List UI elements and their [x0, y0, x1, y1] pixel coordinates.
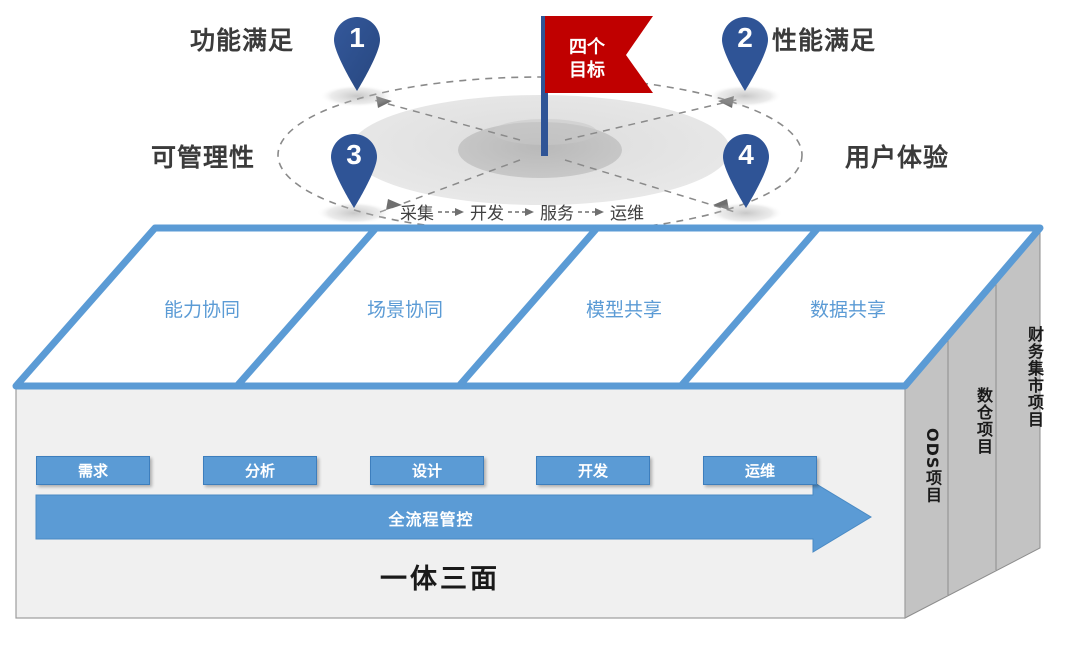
flag-label-line1: 四个	[562, 36, 612, 59]
goals-orbit-section: 功能满足 性能满足 可管理性 用户体验 1 2 3	[0, 0, 1080, 250]
top-panel-label-1: 场景协同	[367, 295, 443, 322]
map-pin-1[interactable]: 1	[330, 14, 384, 92]
flow-arrow-icon	[438, 206, 466, 218]
flag-label: 四个 目标	[562, 36, 612, 82]
top-panel-label-0: 能力协同	[164, 295, 240, 322]
side-panel-label-0: ODS项目	[920, 428, 944, 503]
three-face-block: 能力协同 场景协同 模型共享 数据共享 ODS项目 数仓项目 财务集市项目 需求…	[0, 218, 1080, 638]
block-caption: 一体三面	[0, 557, 880, 596]
top-panel-label-2: 模型共享	[586, 295, 662, 322]
map-pin-3[interactable]: 3	[327, 131, 381, 209]
stage-button-2[interactable]: 设计	[370, 456, 484, 485]
pin-number: 4	[719, 139, 773, 171]
goal-label-3: 可管理性	[151, 138, 255, 174]
side-panel-label-1: 数仓项目	[971, 387, 995, 455]
stage-button-0[interactable]: 需求	[36, 456, 150, 485]
map-pin-4[interactable]: 4	[719, 131, 773, 209]
four-goals-flag	[538, 11, 658, 171]
flow-arrow-icon	[578, 206, 606, 218]
stage-button-1[interactable]: 分析	[203, 456, 317, 485]
goal-label-2: 性能满足	[772, 21, 876, 57]
stage-button-4[interactable]: 运维	[703, 456, 817, 485]
stage-button-3[interactable]: 开发	[536, 456, 650, 485]
goal-label-4: 用户体验	[845, 138, 949, 174]
pin-number: 1	[330, 22, 384, 54]
pin-number: 3	[327, 139, 381, 171]
diagram-canvas: 功能满足 性能满足 可管理性 用户体验 1 2 3	[0, 0, 1080, 651]
flow-arrow-icon	[508, 206, 536, 218]
arrow-bar-label: 全流程管控	[36, 506, 826, 530]
top-panel-label-3: 数据共享	[810, 295, 886, 322]
map-pin-2[interactable]: 2	[718, 14, 772, 92]
goal-label-1: 功能满足	[190, 21, 294, 57]
flag-label-line2: 目标	[562, 59, 612, 82]
pin-number: 2	[718, 22, 772, 54]
side-panel-label-2: 财务集市项目	[1022, 326, 1046, 428]
